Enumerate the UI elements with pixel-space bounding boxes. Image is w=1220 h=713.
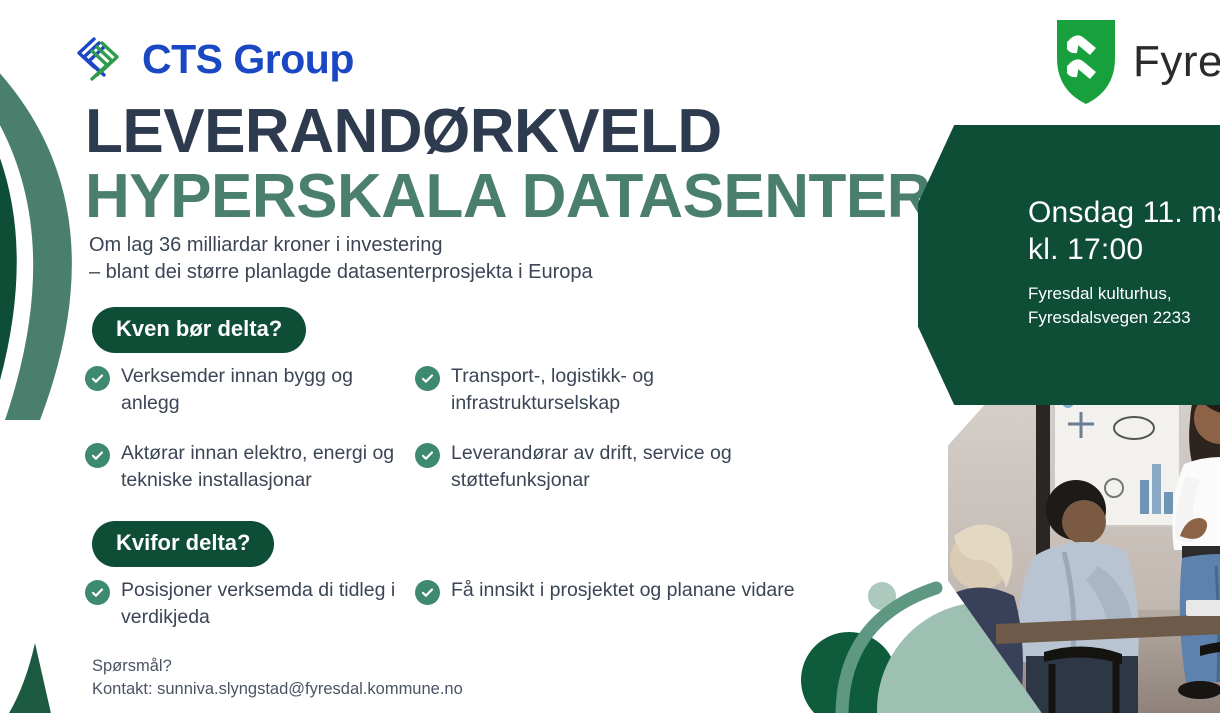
cts-group-wordmark: CTS Group [142, 39, 354, 80]
check-circle-icon [415, 443, 440, 468]
event-date: Onsdag 11. mar [1028, 195, 1220, 232]
check-circle-icon [85, 443, 110, 468]
list-item-label: Få innsikt i prosjektet og planane vidar… [451, 577, 795, 604]
poster-title-line2: HYPERSKALA DATASENTER [85, 167, 931, 227]
poster-title-line1: LEVERANDØRKVELD [85, 102, 722, 162]
list-item-label: Verksemder innan bygg og anlegg [121, 363, 415, 417]
list-item: Aktørar innan elektro, energi og teknisk… [85, 440, 415, 494]
venue-line-2: Fyresdalsvegen 2233 [1028, 306, 1220, 330]
list-item: Leverandørar av drift, service og støtte… [415, 440, 805, 494]
event-venue: Fyresdal kulturhus, Fyresdalsvegen 2233 [1028, 282, 1220, 330]
meeting-photo [948, 360, 1220, 713]
list-item-label: Transport-, logistikk- og infrastrukturs… [451, 363, 805, 417]
fyresdal-wordmark: Fyres [1133, 40, 1220, 84]
list-item-label: Leverandørar av drift, service og støtte… [451, 440, 805, 494]
event-info-panel: Onsdag 11. mar kl. 17:00 Fyresdal kultur… [918, 125, 1220, 405]
lede-line-1: Om lag 36 milliardar kroner i investerin… [89, 232, 593, 259]
contact-block: Spørsmål? Kontakt: sunniva.slyngstad@fyr… [92, 655, 463, 702]
check-circle-icon [415, 580, 440, 605]
poster-canvas: CTS Group LEVERANDØRKVELD HYPERSKALA DAT… [0, 0, 1220, 713]
badge-why-attend: Kvifor delta? [92, 521, 274, 567]
list-item: Posisjoner verksemda di tidleg i verdikj… [85, 577, 415, 631]
bullet-list-why: Posisjoner verksemda di tidleg i verdikj… [85, 577, 805, 631]
contact-email[interactable]: Kontakt: sunniva.slyngstad@fyresdal.komm… [92, 678, 463, 701]
list-item: Få innsikt i prosjektet og planane vidar… [415, 577, 805, 631]
badge-who-should-attend: Kven bør delta? [92, 307, 306, 353]
poster-lede: Om lag 36 milliardar kroner i investerin… [89, 232, 593, 286]
list-item-label: Posisjoner verksemda di tidleg i verdikj… [121, 577, 415, 631]
bottom-left-arc-decoration [0, 633, 60, 713]
event-time: kl. 17:00 [1028, 232, 1220, 269]
fyresdal-shield-icon [1055, 18, 1117, 106]
check-circle-icon [85, 580, 110, 605]
cts-chevron-logo-icon [72, 33, 128, 85]
bullet-list-who: Verksemder innan bygg og anlegg Transpor… [85, 363, 805, 494]
fyresdal-kommune-logo: Fyres [1055, 18, 1220, 106]
contact-question: Spørsmål? [92, 655, 463, 678]
check-circle-icon [85, 366, 110, 391]
cts-group-logo: CTS Group [72, 33, 354, 85]
lede-line-2: – blant dei større planlagde datasenterp… [89, 259, 593, 286]
check-circle-icon [415, 366, 440, 391]
list-item: Verksemder innan bygg og anlegg [85, 363, 415, 417]
venue-line-1: Fyresdal kulturhus, [1028, 282, 1220, 306]
list-item: Transport-, logistikk- og infrastrukturs… [415, 363, 805, 417]
list-item-label: Aktørar innan elektro, energi og teknisk… [121, 440, 415, 494]
